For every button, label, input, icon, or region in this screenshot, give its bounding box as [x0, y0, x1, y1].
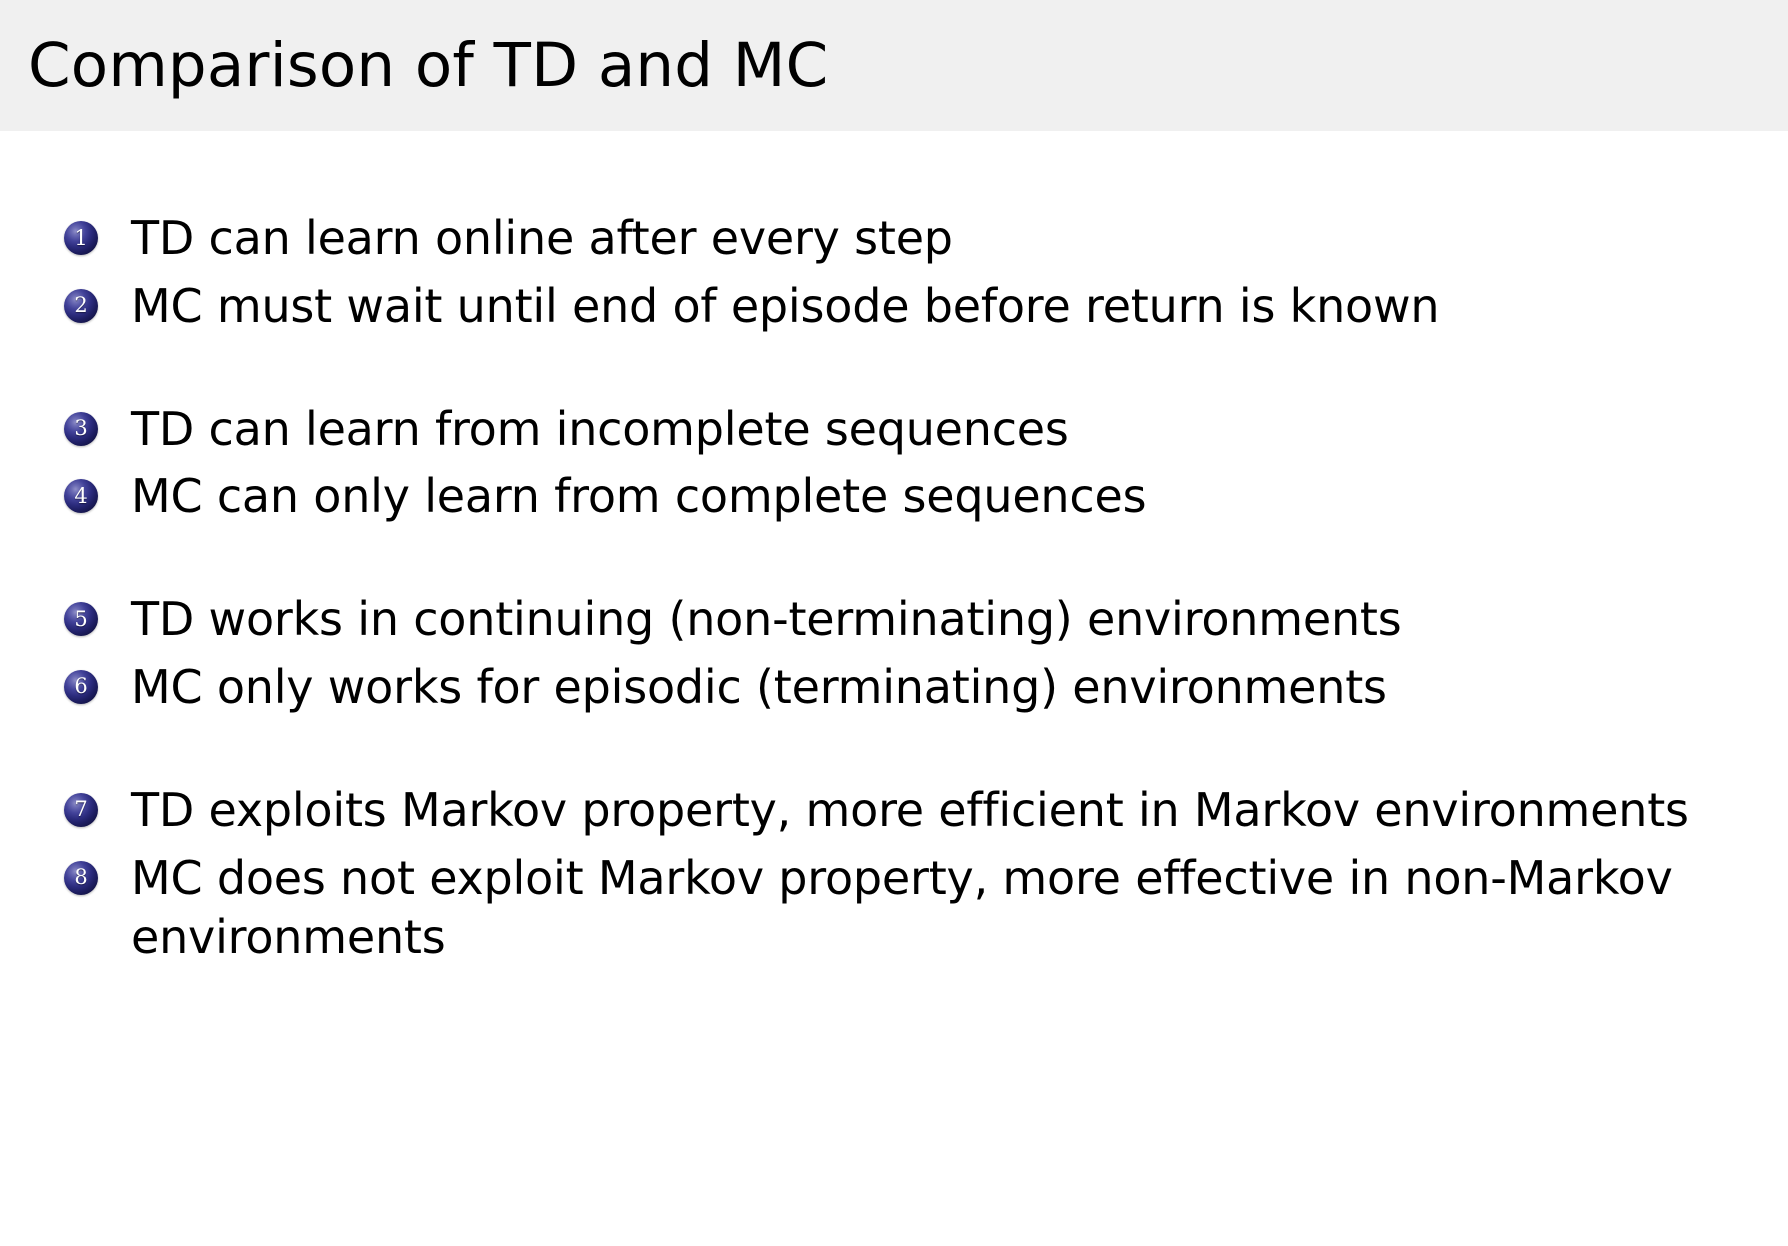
bullet-number: 6 [74, 676, 87, 697]
bullet-ball-icon: 5 [64, 602, 98, 636]
list-item-text: TD can learn from incomplete sequences [131, 400, 1758, 460]
list-item: 6 MC only works for episodic (terminatin… [58, 658, 1758, 718]
list-group: 7 TD exploits Markov property, more effi… [58, 781, 1758, 968]
slide-title-bar: Comparison of TD and MC [0, 0, 1788, 131]
slide: Comparison of TD and MC 1 TD can learn o… [0, 0, 1788, 1246]
bullet-ball-icon: 8 [64, 861, 98, 895]
bullet-number: 7 [74, 799, 87, 820]
list-item-text: TD works in continuing (non-terminating)… [131, 590, 1758, 650]
list-item: 3 TD can learn from incomplete sequences [58, 400, 1758, 460]
enumerated-list: 1 TD can learn online after every step 2… [58, 209, 1758, 968]
bullet-ball-icon: 2 [64, 289, 98, 323]
bullet-ball-icon: 4 [64, 479, 98, 513]
bullet-number: 5 [74, 609, 87, 630]
list-group: 1 TD can learn online after every step 2… [58, 209, 1758, 337]
list-item-text: MC must wait until end of episode before… [131, 277, 1758, 337]
list-item: 5 TD works in continuing (non-terminatin… [58, 590, 1758, 650]
bullet-ball-icon: 7 [64, 793, 98, 827]
list-item-text: MC only works for episodic (terminating)… [131, 658, 1758, 718]
bullet-number: 8 [74, 867, 87, 888]
bullet-number: 1 [74, 228, 87, 249]
list-item-text: TD exploits Markov property, more effici… [131, 781, 1758, 841]
bullet-number: 2 [74, 295, 87, 316]
list-item-text: MC can only learn from complete sequence… [131, 467, 1758, 527]
list-item-text: TD can learn online after every step [131, 209, 1758, 269]
list-group: 5 TD works in continuing (non-terminatin… [58, 590, 1758, 718]
list-item: 8 MC does not exploit Markov property, m… [58, 849, 1758, 969]
slide-body: 1 TD can learn online after every step 2… [0, 131, 1788, 1246]
bullet-number: 4 [74, 486, 87, 507]
bullet-ball-icon: 3 [64, 412, 98, 446]
list-item: 2 MC must wait until end of episode befo… [58, 277, 1758, 337]
list-item: 4 MC can only learn from complete sequen… [58, 467, 1758, 527]
bullet-number: 3 [74, 418, 87, 439]
list-item: 7 TD exploits Markov property, more effi… [58, 781, 1758, 841]
bullet-ball-icon: 6 [64, 670, 98, 704]
list-item: 1 TD can learn online after every step [58, 209, 1758, 269]
list-item-text: MC does not exploit Markov property, mor… [131, 849, 1758, 969]
page-title: Comparison of TD and MC [28, 35, 828, 96]
bullet-ball-icon: 1 [64, 221, 98, 255]
list-group: 3 TD can learn from incomplete sequences… [58, 400, 1758, 528]
